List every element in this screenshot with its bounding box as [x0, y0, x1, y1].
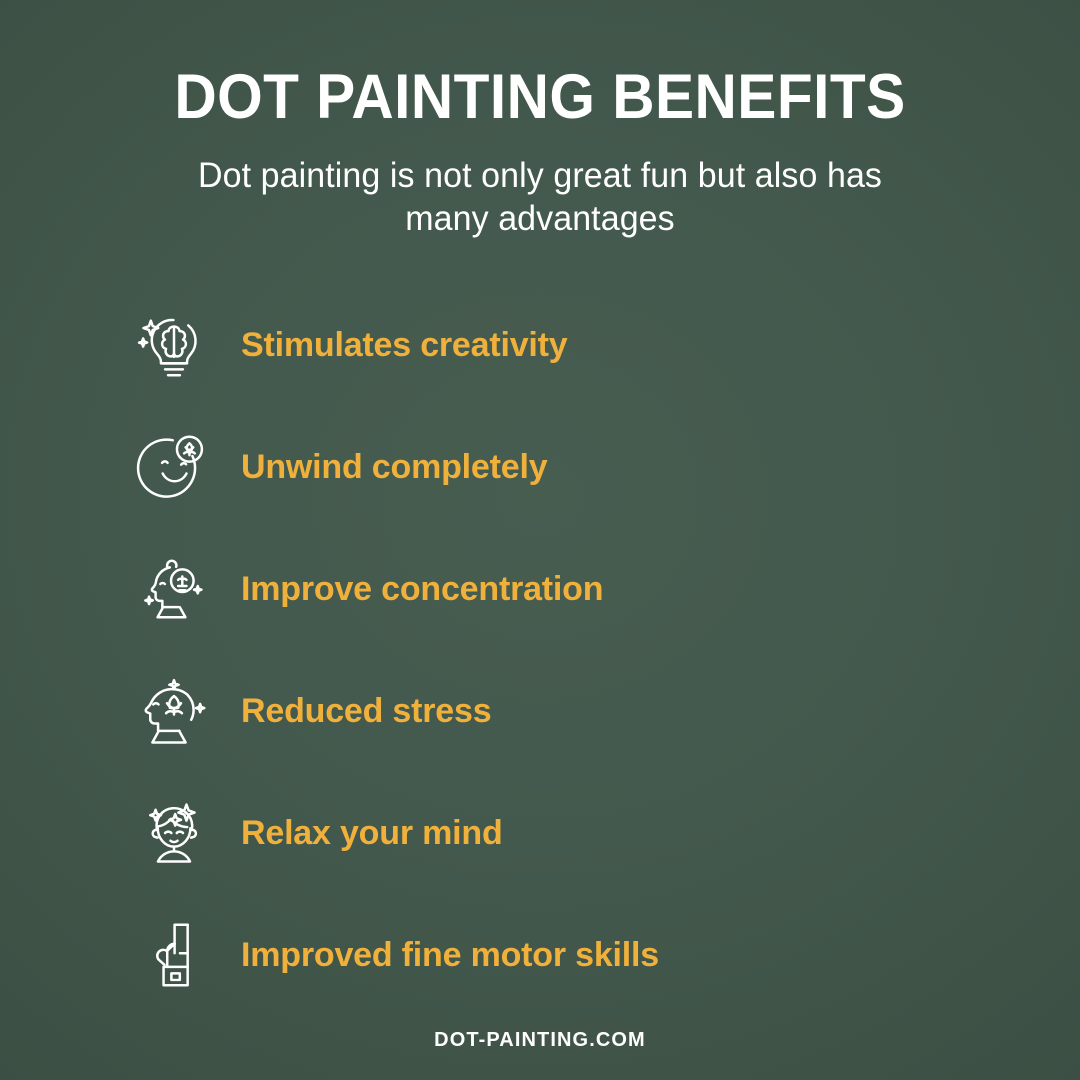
list-item: Reduced stress: [0, 650, 1080, 772]
benefits-list: Stimulates creativity Unwind completely: [0, 284, 1080, 1016]
list-item: Improve concentration: [0, 528, 1080, 650]
header: DOT PAINTING BENEFITS Dot painting is no…: [0, 0, 1080, 240]
website-url: DOT-PAINTING.COM: [434, 1029, 646, 1051]
benefit-label: Improve concentration: [241, 570, 603, 609]
infographic-poster: DOT PAINTING BENEFITS Dot painting is no…: [0, 0, 1080, 1080]
footer: DOT-PAINTING.COM: [0, 1029, 1080, 1052]
head-profile-lotus-icon: [135, 672, 213, 750]
page-subtitle: Dot painting is not only great fun but a…: [157, 155, 923, 240]
benefit-label: Stimulates creativity: [241, 326, 568, 365]
list-item: Stimulates creativity: [0, 284, 1080, 406]
page-title: DOT PAINTING BENEFITS: [38, 66, 1042, 129]
hand-holding-tool-icon: [135, 916, 213, 994]
list-item: Relax your mind: [0, 772, 1080, 894]
benefit-label: Relax your mind: [241, 814, 503, 853]
benefit-label: Reduced stress: [241, 692, 491, 731]
benefit-label: Improved fine motor skills: [241, 936, 659, 975]
list-item: Improved fine motor skills: [0, 894, 1080, 1016]
lightbulb-brain-sparkle-icon: [135, 306, 213, 384]
serene-face-sparkle-icon: [135, 794, 213, 872]
list-item: Unwind completely: [0, 406, 1080, 528]
benefit-label: Unwind completely: [241, 448, 547, 487]
head-profile-lightbulb-icon: [135, 550, 213, 628]
winking-smiley-flower-icon: [135, 428, 213, 506]
